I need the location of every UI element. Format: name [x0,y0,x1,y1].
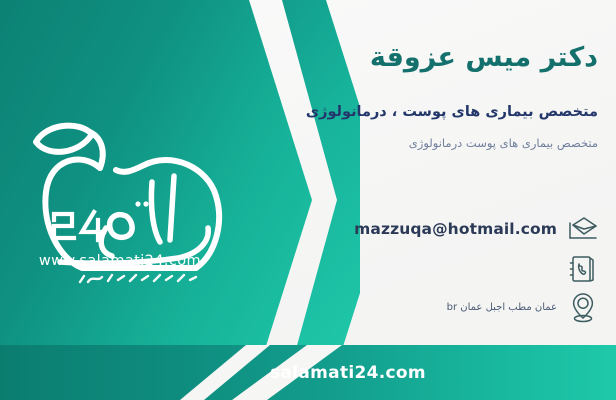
contact-row-address[interactable]: عمان مطب اجبل عمان br [447,290,600,324]
contact-row-phone[interactable] [557,252,600,286]
doctor-specialty: متخصص بیماری های پوست ، درمانولوژی [258,103,598,122]
address-value: عمان مطب اجبل عمان br [447,302,557,313]
footer-website[interactable]: salamati24.com [0,345,616,400]
business-card: www.salamati24.com دکتر میس عزوقة متخصص … [0,0,616,400]
doctor-specialty-secondary: متخصص بیماری های پوست درمانولوژی [258,136,598,151]
contact-row-email[interactable]: mazzuqa@hotmail.com [354,212,600,246]
logo-website-url: www.salamati24.com [20,253,220,269]
doctor-name: دکتر میس عزوقة [268,42,598,74]
email-value: mazzuqa@hotmail.com [354,220,557,238]
map-pin-icon [566,290,600,324]
phone-book-icon [566,252,600,286]
envelope-icon [566,212,600,246]
